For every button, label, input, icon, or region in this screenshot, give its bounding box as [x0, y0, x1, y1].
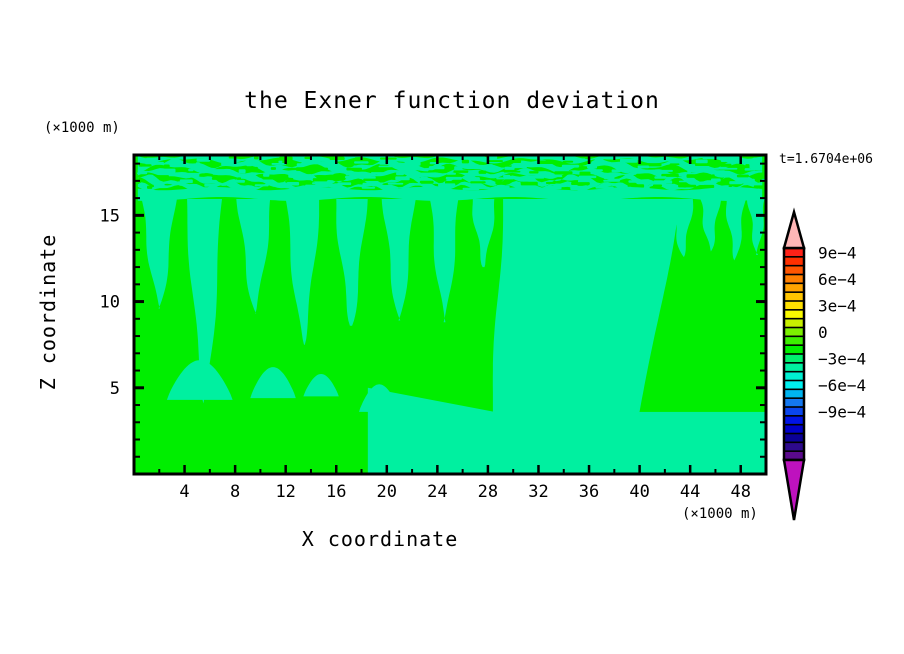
x-tick-label: 32: [528, 482, 548, 502]
colorbar-band: [784, 425, 804, 434]
y-tick-label: 10: [100, 293, 120, 313]
colorbar-band: [784, 407, 804, 416]
x-tick-labels: 4812162024283236404448: [179, 482, 751, 502]
colorbar-band: [784, 434, 804, 443]
colorbar-tick-label: −9e−4: [818, 402, 866, 421]
plot-svg: 4812162024283236404448 51015 9e−46e−43e−…: [0, 0, 904, 654]
colorbar-tick-label: 6e−4: [818, 270, 857, 289]
x-tick-label: 36: [579, 482, 599, 502]
colorbar: [784, 212, 804, 520]
colorbar-tick-labels: 9e−46e−43e−40−3e−4−6e−4−9e−4: [818, 243, 866, 421]
colorbar-band: [784, 328, 804, 337]
x-tick-label: 16: [326, 482, 346, 502]
colorbar-band: [784, 266, 804, 275]
triangle-up-icon: [784, 212, 804, 248]
triangle-down-icon: [784, 460, 804, 520]
x-tick-label: 8: [230, 482, 240, 502]
x-tick-label: 28: [478, 482, 498, 502]
x-tick-label: 24: [427, 482, 447, 502]
colorbar-tick-label: 9e−4: [818, 243, 857, 262]
colorbar-band: [784, 389, 804, 398]
colorbar-tick-label: 3e−4: [818, 296, 857, 315]
colorbar-band: [784, 354, 804, 363]
x-tick-label: 48: [730, 482, 750, 502]
colorbar-band: [784, 310, 804, 319]
colorbar-band: [784, 416, 804, 425]
colorbar-band: [784, 345, 804, 354]
y-tick-label: 15: [100, 206, 120, 226]
colorbar-band: [784, 381, 804, 390]
x-tick-label: 12: [275, 482, 295, 502]
contour-field: [134, 153, 773, 474]
x-tick-label: 40: [629, 482, 649, 502]
figure-canvas: the Exner function deviation (×1000 m) (…: [0, 0, 904, 654]
x-tick-label: 4: [179, 482, 189, 502]
y-tick-labels: 51015: [100, 206, 120, 398]
colorbar-tick-label: −6e−4: [818, 376, 866, 395]
colorbar-band: [784, 372, 804, 381]
colorbar-band: [784, 336, 804, 345]
colorbar-band: [784, 442, 804, 451]
x-tick-label: 20: [377, 482, 397, 502]
colorbar-band: [784, 363, 804, 372]
colorbar-band: [784, 248, 804, 257]
colorbar-tick-label: 0: [818, 323, 828, 342]
y-tick-label: 5: [110, 379, 120, 399]
colorbar-tick-label: −3e−4: [818, 349, 866, 368]
colorbar-band: [784, 292, 804, 301]
colorbar-band: [784, 319, 804, 328]
colorbar-band: [784, 275, 804, 284]
colorbar-band: [784, 301, 804, 310]
colorbar-band: [784, 257, 804, 266]
colorbar-band: [784, 283, 804, 292]
x-tick-label: 44: [680, 482, 700, 502]
colorbar-band: [784, 398, 804, 407]
